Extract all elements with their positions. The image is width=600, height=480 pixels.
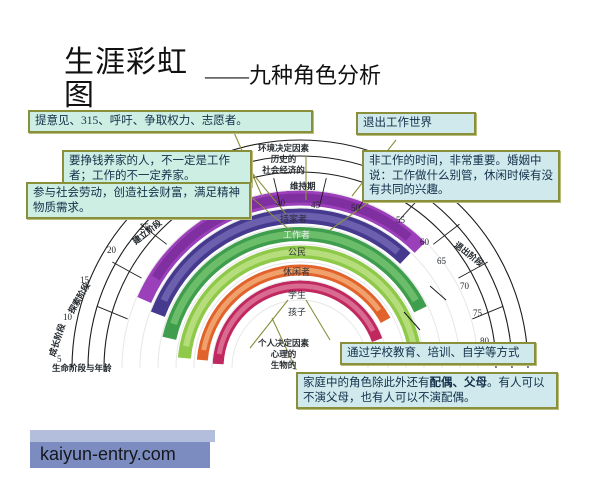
age-tick-45: 45 [311, 200, 320, 210]
callout-family-roles-text: 家庭中的角色除此外还有配偶、父母。有人可以不演父母，也有人可以不演配偶。 [303, 377, 545, 404]
age-tick-20: 20 [107, 245, 116, 255]
age-tick-10: 10 [63, 312, 72, 322]
age-tick-50: 50 [351, 203, 360, 213]
stage-label-maintain: 维持期 [290, 180, 316, 192]
personal-determinants-line-2: 生物的 [271, 360, 297, 370]
role-label-citizen: 公民 [288, 245, 306, 258]
environment-determinants: 环境决定因素 历史的 社会经济的 [258, 143, 309, 176]
environment-determinants-line-2: 社会经济的 [262, 165, 305, 175]
age-tick-5: 5 [57, 354, 62, 364]
watermark-text: kaiyun-entry.com [40, 444, 176, 465]
personal-determinants-title: 个人决定因素 [258, 338, 309, 348]
environment-determinants-title: 环境决定因素 [258, 143, 309, 153]
role-label-leisurite: 休闲者 [283, 265, 310, 278]
callout-family-roles: 家庭中的角色除此外还有配偶、父母。有人可以不演父母，也有人可以不演配偶。 [296, 372, 558, 409]
callout-leisure-role: 非工作的时间，非常重要。婚姻中说：工作做什么别管，休闲时候有没有共同的兴趣。 [362, 150, 560, 202]
callout-retirement: 退出工作世界 [356, 112, 476, 135]
role-label-homemaker: 持家者 [280, 212, 307, 225]
age-tick-55: 55 [396, 215, 405, 225]
callout-citizen-role: 提意见、315、呼吁、争取权力、志愿者。 [28, 110, 313, 133]
role-label-child: 孩子 [288, 305, 306, 318]
callout-student-role: 通过学校教育、培训、自学等方式 [340, 342, 536, 365]
watermark-band-light [30, 430, 215, 442]
age-tick-15: 15 [80, 275, 89, 285]
environment-determinants-line-1: 历史的 [271, 154, 297, 164]
age-tick-60: 60 [420, 237, 429, 247]
role-label-student: 学生 [288, 288, 306, 301]
age-tick-65: 65 [437, 256, 446, 266]
personal-determinants-line-1: 心理的 [271, 349, 297, 359]
role-label-worker: 工作者 [283, 228, 310, 241]
personal-determinants: 个人决定因素 心理的 生物的 [258, 338, 309, 371]
career-rainbow-diagram: 生涯彩虹图 ——九种角色分析 [0, 0, 600, 480]
age-tick-25: 25 [140, 222, 149, 232]
callout-worker-role: 参与社会劳动，创造社会财富，满足精神物质需求。 [26, 182, 251, 219]
age-tick-70: 70 [460, 281, 469, 291]
age-tick-75: 75 [473, 308, 482, 318]
age-tick-40: 40 [276, 198, 285, 208]
